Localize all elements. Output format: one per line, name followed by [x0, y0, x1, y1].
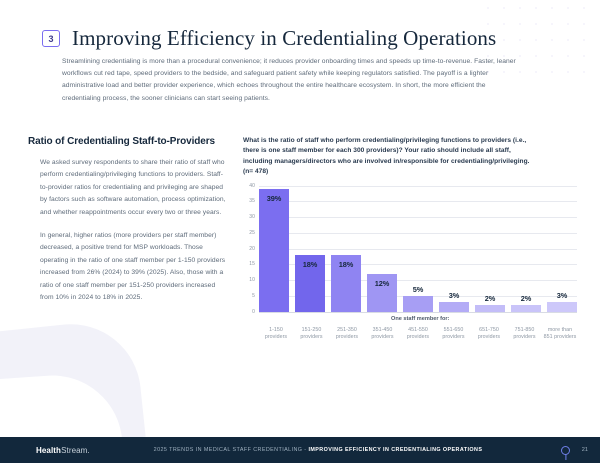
y-axis-tick: 30 — [249, 214, 255, 220]
chart-bars: 39%18%18%12%5%3%2%2%3% — [259, 186, 577, 312]
bar-chart: 0510152025303540 39%18%18%12%5%3%2%2%3% … — [241, 186, 577, 328]
bar-value-label: 2% — [485, 294, 495, 303]
chart-bar[interactable] — [511, 305, 541, 311]
chart-bar[interactable] — [547, 302, 577, 311]
left-column-heading: Ratio of Credentialing Staff-to-Provider… — [28, 136, 230, 147]
footer-breadcrumb-prefix: 2025 TRENDS IN MEDICAL STAFF CREDENTIALI… — [154, 447, 309, 453]
chart-y-axis: 0510152025303540 — [241, 186, 257, 312]
page-footer: HealthStream. 2025 TRENDS IN MEDICAL STA… — [0, 437, 600, 463]
y-axis-tick: 15 — [249, 261, 255, 267]
bar-value-label: 18% — [303, 260, 318, 269]
bar-slot: 18% — [331, 186, 361, 312]
chart-bar[interactable] — [439, 302, 469, 311]
page-number: 21 — [582, 447, 588, 453]
pin-marker-icon — [561, 446, 570, 455]
section-number-badge: 3 — [42, 30, 60, 47]
chart-bar[interactable] — [403, 296, 433, 312]
x-axis-label: 551-650 providers — [437, 327, 471, 341]
footer-breadcrumb: 2025 TRENDS IN MEDICAL STAFF CREDENTIALI… — [154, 447, 483, 453]
x-axis-label: 351-450 providers — [366, 327, 400, 341]
left-paragraph-1: We asked survey respondents to share the… — [40, 157, 230, 219]
right-column: What is the ratio of staff who perform c… — [243, 136, 573, 328]
healthstream-logo: HealthStream. — [36, 446, 90, 455]
y-axis-tick: 35 — [249, 198, 255, 204]
y-axis-tick: 5 — [252, 293, 255, 299]
bar-slot: 3% — [439, 186, 469, 312]
bar-value-label: 39% — [267, 194, 282, 203]
y-axis-tick: 10 — [249, 277, 255, 283]
bar-value-label: 2% — [521, 294, 531, 303]
chart-question-title: What is the ratio of staff who perform c… — [243, 136, 533, 178]
bar-slot: 12% — [367, 186, 397, 312]
y-axis-tick: 0 — [252, 309, 255, 315]
chart-plot-area: 39%18%18%12%5%3%2%2%3% — [259, 186, 577, 312]
y-axis-tick: 20 — [249, 246, 255, 252]
x-axis-label: 1-150 providers — [259, 327, 293, 341]
section-intro-paragraph: Streamlining credentialing is more than … — [62, 56, 524, 105]
bar-slot: 39% — [259, 186, 289, 312]
y-axis-tick: 25 — [249, 230, 255, 236]
logo-light-part: Stream. — [61, 446, 90, 455]
chart-bar[interactable] — [475, 305, 505, 311]
bar-slot: 2% — [475, 186, 505, 312]
logo-bold-part: Health — [36, 446, 61, 455]
bar-value-label: 3% — [557, 291, 567, 300]
bar-slot: 2% — [511, 186, 541, 312]
x-axis-label: 651-750 providers — [472, 327, 506, 341]
left-paragraph-2: In general, higher ratios (more provider… — [40, 230, 230, 304]
y-axis-tick: 40 — [249, 183, 255, 189]
left-column-body: We asked survey respondents to share the… — [28, 157, 230, 304]
bar-slot: 18% — [295, 186, 325, 312]
bar-slot: 3% — [547, 186, 577, 312]
bar-slot: 5% — [403, 186, 433, 312]
slide-page: 3 Improving Efficiency in Credentialing … — [0, 0, 600, 463]
x-axis-label: more than 851 providers — [543, 327, 577, 341]
chart-x-axis-caption: One staff member for: — [391, 316, 449, 322]
gridline — [259, 312, 577, 313]
bar-value-label: 18% — [339, 260, 354, 269]
section-header: 3 Improving Efficiency in Credentialing … — [42, 26, 560, 51]
x-axis-label: 151-250 providers — [295, 327, 329, 341]
chart-x-axis-labels: 1-150 providers151-250 providers251-350 … — [259, 327, 577, 341]
bar-value-label: 12% — [375, 279, 390, 288]
x-axis-label: 451-550 providers — [401, 327, 435, 341]
x-axis-label: 751-850 providers — [508, 327, 542, 341]
bar-value-label: 5% — [413, 285, 423, 294]
page-title: Improving Efficiency in Credentialing Op… — [72, 26, 496, 51]
left-column: Ratio of Credentialing Staff-to-Provider… — [28, 136, 230, 315]
x-axis-label: 251-350 providers — [330, 327, 364, 341]
footer-breadcrumb-current: IMPROVING EFFICIENCY IN CREDENTIALING OP… — [308, 447, 482, 453]
bar-value-label: 3% — [449, 291, 459, 300]
chart-bar[interactable] — [259, 189, 289, 312]
